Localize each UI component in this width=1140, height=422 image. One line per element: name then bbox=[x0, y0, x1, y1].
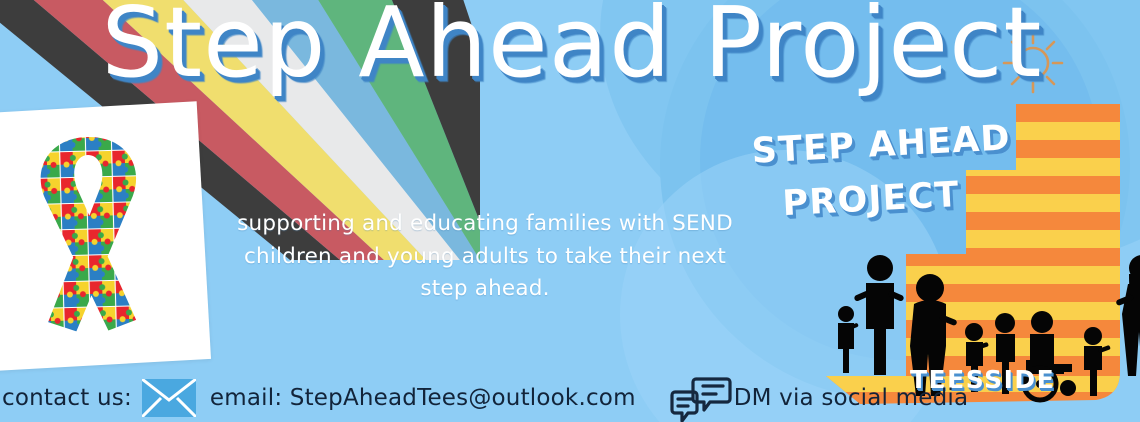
tagline-line-1: supporting and educating families with S… bbox=[175, 208, 795, 241]
tagline-line-3: step ahead. bbox=[175, 273, 795, 306]
dm-social-media-text[interactable]: DM via social media bbox=[734, 385, 969, 411]
contact-us-label: contact us: bbox=[2, 385, 132, 411]
autism-awareness-puzzle-ribbon-icon bbox=[7, 123, 173, 357]
tagline-line-2: children and young adults to take their … bbox=[175, 241, 795, 274]
step-ahead-project-banner: Step Ahead Project supporting and educat… bbox=[0, 0, 1140, 422]
page-title: Step Ahead Project bbox=[0, 0, 1140, 94]
contact-bar: contact us: email: StepAheadTees@outlook… bbox=[0, 374, 1140, 422]
envelope-icon[interactable] bbox=[142, 379, 196, 417]
email-address-text[interactable]: email: StepAheadTees@outlook.com bbox=[210, 385, 636, 411]
tagline: supporting and educating families with S… bbox=[175, 208, 795, 306]
speech-bubbles-icon[interactable] bbox=[670, 376, 732, 422]
